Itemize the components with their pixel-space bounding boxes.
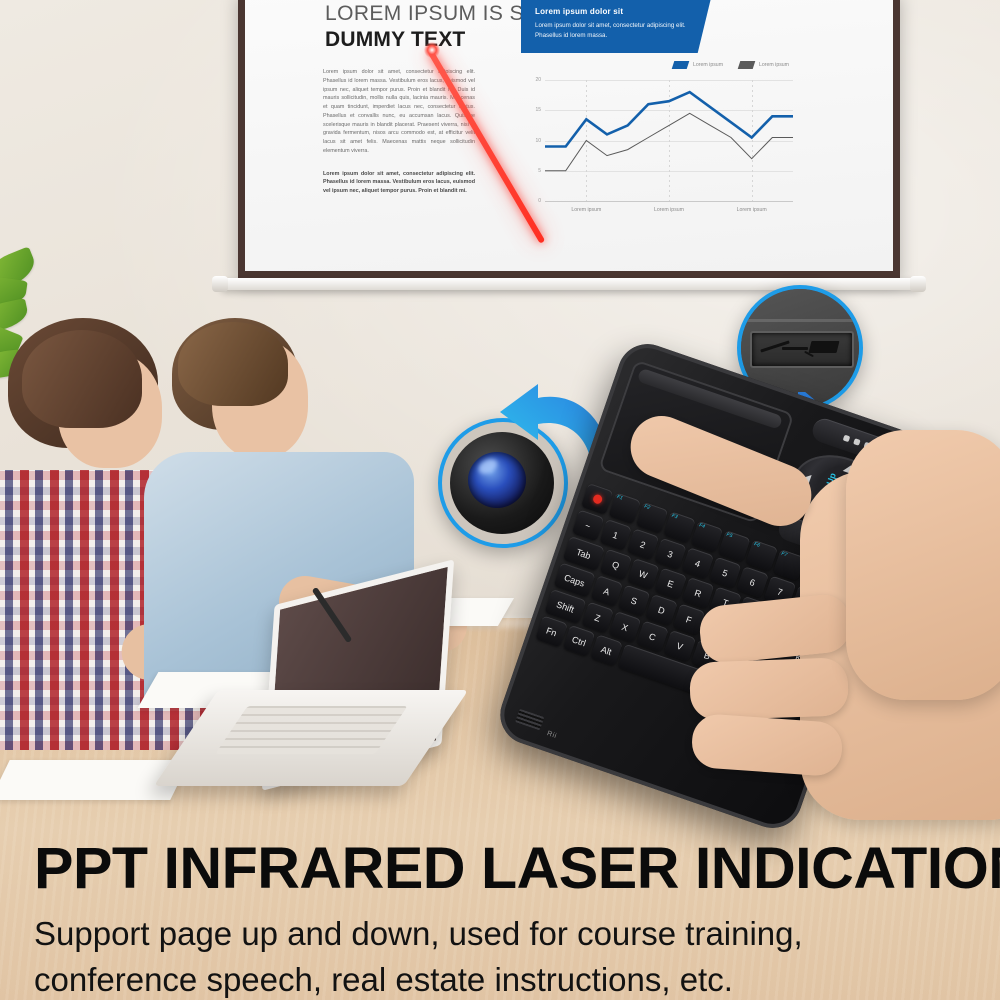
key-label: W [638,568,649,580]
key-label: 3 [666,548,674,559]
fn-label: F3 [671,513,678,521]
chart-gridline [545,201,793,202]
chart-series-lines [545,80,793,201]
legend-label: Lorem ipsum [693,62,723,68]
banner-heading: Lorem ipsum dolor sit [535,7,697,16]
fn-label: F4 [698,522,705,530]
key-alt[interactable]: Alt [590,634,623,666]
slide-line-chart: Lorem ipsumLorem ipsum 05101520Lorem ips… [525,62,795,227]
roller-cap-right [910,276,926,292]
roller-cap-left [212,276,228,292]
chart-y-tick: 20 [535,77,541,83]
key-label: X [621,621,630,632]
projector-screen: LOREM IPSUM IS SIMPLY DUMMY TEXT Lorem i… [238,0,900,300]
key-label: Fn [545,625,558,638]
chart-legend: Lorem ipsumLorem ipsum [673,61,789,69]
key-label: 5 [721,567,729,578]
chart-y-tick: 0 [538,198,541,204]
key-label: S [630,595,639,606]
banner-body: Lorem ipsum dolor sit amet, consectetur … [535,21,697,40]
chart-x-tick: Lorem ipsum [571,207,601,213]
chart-legend-item: Lorem ipsum [739,61,789,69]
chart-plot-area: 05101520Lorem ipsumLorem ipsumLorem ipsu… [545,80,793,201]
key-a[interactable]: A [590,575,623,607]
key-label: A [602,585,611,596]
key-label: V [675,640,684,651]
key-z[interactable]: Z [581,602,614,634]
fn-label: F7 [780,551,787,559]
key-v[interactable]: V [663,630,696,662]
chart-line-1 [545,113,793,171]
key-label: 6 [749,577,757,588]
key-e[interactable]: E [654,568,687,600]
laser-dot [424,42,440,58]
key-s[interactable]: S [618,585,651,617]
fn-label: F6 [753,541,760,549]
product-marketing-image: LOREM IPSUM IS SIMPLY DUMMY TEXT Lorem i… [0,0,1000,1000]
headline-block: PPT INFRARED LASER INDICATION Support pa… [34,840,974,1000]
key-4[interactable]: 4 [681,547,714,579]
key-r[interactable]: R [682,577,715,609]
key-label: R [693,587,702,599]
key-1[interactable]: 1 [599,519,632,551]
chart-line-0 [545,92,793,146]
chart-y-tick: 15 [535,107,541,113]
legend-swatch [672,61,690,69]
key-w[interactable]: W [627,558,660,590]
key-label: 4 [694,558,702,569]
fn-label: F2 [643,503,650,511]
key-label: Tab [575,547,592,561]
key-label: Caps [563,572,586,588]
key-ctrl[interactable]: Ctrl [563,625,596,657]
key-label: Z [593,612,601,623]
legend-label: Lorem ipsum [759,62,789,68]
key-label: E [666,578,675,589]
key-d[interactable]: D [645,594,678,626]
key-x[interactable]: X [609,611,642,643]
headline-subtitle-line2: conference speech, real estate instructi… [34,958,974,1000]
key-5[interactable]: 5 [709,557,742,589]
key-label: Shift [555,599,575,614]
key-label: Q [611,559,621,571]
key-q[interactable]: Q [599,549,632,581]
key-label: ~ [584,520,592,531]
key-label: F [685,614,693,625]
chart-y-tick: 5 [538,168,541,174]
key-6[interactable]: 6 [736,566,769,598]
key-3[interactable]: 3 [654,538,687,570]
chart-legend-item: Lorem ipsum [673,61,723,69]
laptop-keyboard[interactable] [215,706,407,754]
presentation-slide: LOREM IPSUM IS SIMPLY DUMMY TEXT Lorem i… [253,0,885,263]
headline-title: PPT INFRARED LASER INDICATION [34,840,993,898]
slide-paragraph-1: Lorem ipsum dolor sit amet, consectetur … [323,68,475,156]
key-c[interactable]: C [636,620,669,652]
fn-label: F1 [616,494,623,502]
legend-swatch [738,61,756,69]
key-label: 2 [639,539,647,550]
chart-y-tick: 10 [535,138,541,144]
key-label: D [657,604,666,616]
fn-label: F5 [726,532,733,540]
key-label: Ctrl [571,634,587,648]
slide-banner: Lorem ipsum dolor sit Lorem ipsum dolor … [521,0,711,53]
headline-subtitle-line1: Support page up and down, used for cours… [34,912,974,956]
key-2[interactable]: 2 [627,528,660,560]
chart-x-tick: Lorem ipsum [737,207,767,213]
chart-x-tick: Lorem ipsum [654,207,684,213]
key-label: Alt [600,644,613,657]
slide-paragraph-2: Lorem ipsum dolor sit amet, consectetur … [323,170,475,196]
key-label: 1 [611,529,619,540]
key-label: 7 [776,586,784,597]
key-label: C [648,631,657,643]
